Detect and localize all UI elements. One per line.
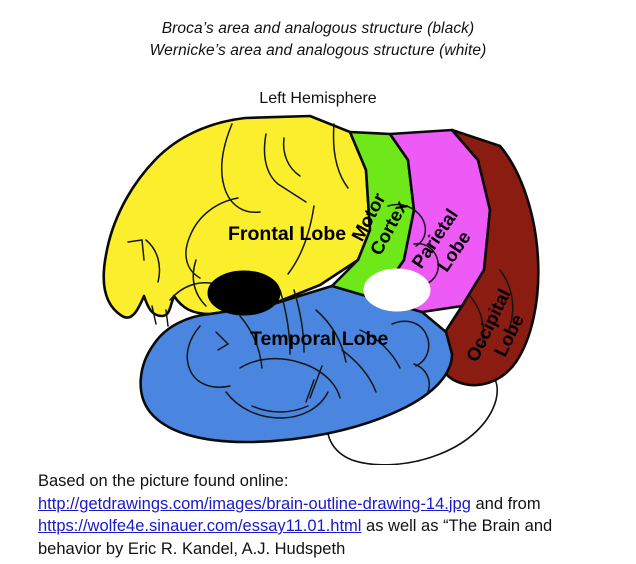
source-link-sinauer[interactable]: https://wolfe4e.sinauer.com/essay11.01.h… — [38, 517, 361, 535]
credits-between-1: and from — [471, 495, 541, 513]
figure-title: Left Hemisphere — [0, 88, 636, 110]
source-credits: Based on the picture found online: http:… — [38, 470, 628, 560]
brocas-area-marker — [208, 271, 280, 315]
credits-between-2: as well as “The Brain and — [361, 517, 552, 535]
credits-line-2: https://wolfe4e.sinauer.com/essay11.01.h… — [38, 515, 628, 538]
brain-illustration: Frontal Lobe Motor Cortex Parietal Lobe … — [70, 110, 570, 465]
legend-caption: Broca’s area and analogous structure (bl… — [0, 18, 636, 62]
label-temporal-lobe: Temporal Lobe — [250, 328, 388, 350]
brain-diagram: Frontal Lobe Motor Cortex Parietal Lobe … — [70, 110, 570, 465]
credits-intro-line: Based on the picture found online: — [38, 470, 628, 493]
legend-line-wernicke: Wernicke’s area and analogous structure … — [0, 40, 636, 62]
wernickes-area-marker — [364, 269, 430, 311]
legend-line-broca: Broca’s area and analogous structure (bl… — [0, 18, 636, 40]
source-link-getdrawings[interactable]: http://getdrawings.com/images/brain-outl… — [38, 495, 471, 513]
label-frontal-lobe: Frontal Lobe — [228, 223, 346, 245]
credits-line-1: http://getdrawings.com/images/brain-outl… — [38, 493, 628, 516]
slide-canvas: Broca’s area and analogous structure (bl… — [0, 0, 636, 564]
credits-tail-line: behavior by Eric R. Kandel, A.J. Hudspet… — [38, 538, 628, 561]
